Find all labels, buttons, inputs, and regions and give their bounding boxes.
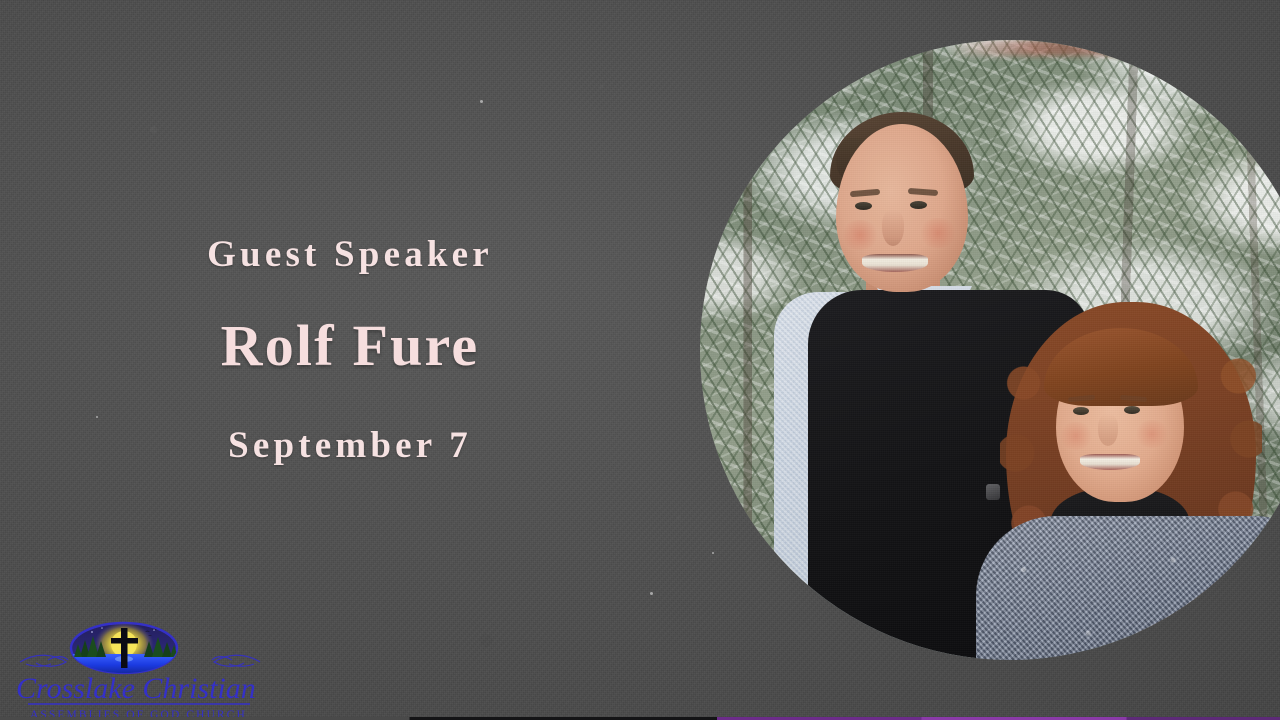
man-eye-left [855,202,872,210]
church-logo: Crosslake Christian ASSEMBLIES OF GOD CH… [14,618,266,720]
woman-cheek-left [1058,422,1094,450]
woman-eye-left [1073,407,1089,415]
man-vest-pin [986,484,1000,500]
headline-text-block: Guest Speaker Rolf Fure September 7 [0,236,700,464]
woman-smile [1080,454,1140,470]
guest-speaker-label: Guest Speaker [0,236,700,273]
man-eye-right [910,201,927,209]
slide-canvas: Guest Speaker Rolf Fure September 7 [0,0,1280,720]
speaker-photo [700,40,1280,660]
flourish-left-icon [20,655,68,666]
man-cheek-right [918,218,958,248]
man-smile [862,254,928,272]
woman-coat-texture [976,516,1280,660]
page-title: Rolf Fure [0,317,700,375]
cross-lake-emblem-icon [71,623,178,674]
woman-cheek-right [1134,420,1170,448]
red-branch-streak [948,40,1233,56]
woman-eye-right [1124,406,1140,414]
man-cheek-left [840,220,880,250]
flourish-right-icon [212,655,260,666]
photo-inner [700,40,1280,660]
woman-nose [1098,414,1118,446]
logo-wordmark: Crosslake Christian [16,672,256,705]
event-date: September 7 [0,427,700,464]
man-nose [882,210,904,246]
